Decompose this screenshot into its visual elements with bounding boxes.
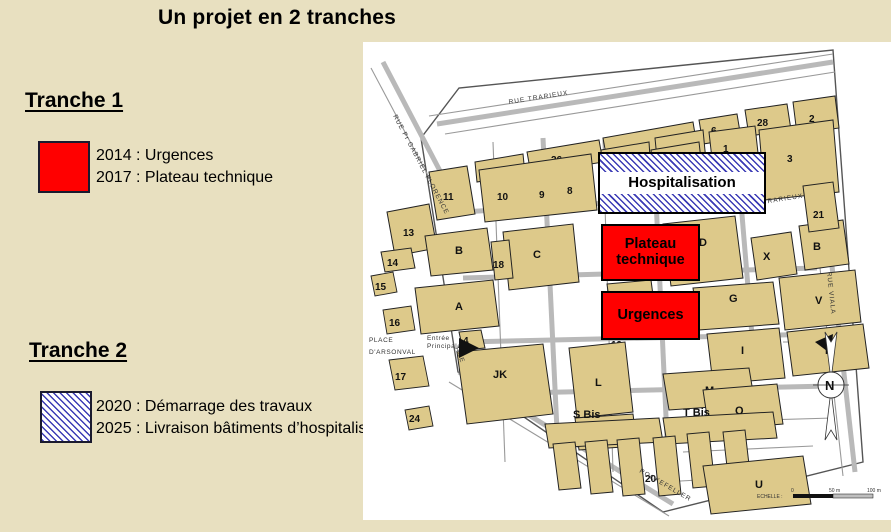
- svg-text:18: 18: [493, 260, 505, 271]
- svg-text:X: X: [763, 251, 771, 263]
- svg-text:21: 21: [813, 210, 825, 221]
- svg-text:15: 15: [375, 282, 387, 293]
- tranche-1-heading: Tranche 1: [25, 89, 123, 113]
- legend-tranche1-text: 2014 : Urgences 2017 : Plateau technique: [96, 145, 273, 188]
- svg-text:D: D: [699, 237, 707, 249]
- svg-text:PLACE: PLACE: [369, 337, 393, 344]
- map-block-urgences-label: Urgences: [617, 308, 683, 323]
- site-map-svg: .bld { fill:#ddc98a; stroke:#222; stroke…: [363, 42, 891, 520]
- svg-text:L: L: [595, 377, 602, 389]
- svg-text:V: V: [815, 295, 823, 307]
- svg-text:B: B: [455, 245, 463, 257]
- svg-text:13: 13: [403, 228, 415, 239]
- svg-text:Principale: Principale: [427, 343, 462, 350]
- legend-tranche2-line2: 2025 : Livraison bâtiments d’hospitalisa…: [96, 418, 401, 440]
- slide-canvas: Un projet en 2 tranches Tranche 1 2014 :…: [0, 0, 891, 532]
- legend-tranche1-line2: 2017 : Plateau technique: [96, 167, 273, 189]
- page-title: Un projet en 2 tranches: [112, 6, 442, 30]
- svg-text:JK: JK: [493, 369, 507, 381]
- svg-text:N: N: [825, 378, 834, 393]
- legend-tranche2-line1: 2020 : Démarrage des travaux: [96, 396, 401, 418]
- svg-text:0: 0: [791, 488, 794, 494]
- site-map-panel: .bld { fill:#ddc98a; stroke:#222; stroke…: [363, 42, 891, 520]
- map-block-plateau-technique: Plateau technique: [601, 224, 700, 281]
- legend-tranche1-line1: 2014 : Urgences: [96, 145, 273, 167]
- svg-text:50 m: 50 m: [829, 488, 840, 494]
- map-block-hospitalisation: Hospitalisation: [598, 152, 766, 214]
- svg-text:G: G: [729, 293, 738, 305]
- map-block-plateau-technique-label: Plateau technique: [616, 237, 684, 267]
- svg-text:A: A: [455, 301, 463, 313]
- svg-text:10: 10: [497, 192, 509, 203]
- svg-text:U: U: [755, 479, 763, 491]
- svg-text:B: B: [813, 241, 821, 253]
- svg-text:I: I: [741, 345, 744, 357]
- legend-swatch-tranche1: [38, 141, 90, 193]
- svg-text:Entrée: Entrée: [427, 335, 450, 342]
- plateau-line1: Plateau: [625, 236, 677, 252]
- svg-text:ECHELLE :: ECHELLE :: [757, 494, 783, 500]
- svg-text:24: 24: [409, 414, 421, 425]
- svg-text:17: 17: [395, 372, 407, 383]
- svg-text:100 m: 100 m: [867, 488, 881, 494]
- svg-text:14: 14: [387, 258, 399, 269]
- svg-text:D'ARSONVAL: D'ARSONVAL: [369, 349, 416, 356]
- svg-text:9: 9: [539, 190, 545, 201]
- svg-text:C: C: [533, 249, 541, 261]
- legend-tranche2-text: 2020 : Démarrage des travaux 2025 : Livr…: [96, 396, 401, 439]
- svg-text:8: 8: [567, 186, 573, 197]
- map-block-hospitalisation-label: Hospitalisation: [600, 172, 764, 194]
- tranche-2-heading: Tranche 2: [29, 339, 127, 363]
- svg-text:3: 3: [787, 154, 793, 165]
- legend-swatch-tranche2: [40, 391, 92, 443]
- svg-text:S Bis: S Bis: [573, 409, 601, 421]
- map-block-urgences: Urgences: [601, 291, 700, 340]
- svg-text:16: 16: [389, 318, 401, 329]
- plateau-line2: technique: [616, 252, 684, 268]
- svg-text:28: 28: [757, 118, 769, 129]
